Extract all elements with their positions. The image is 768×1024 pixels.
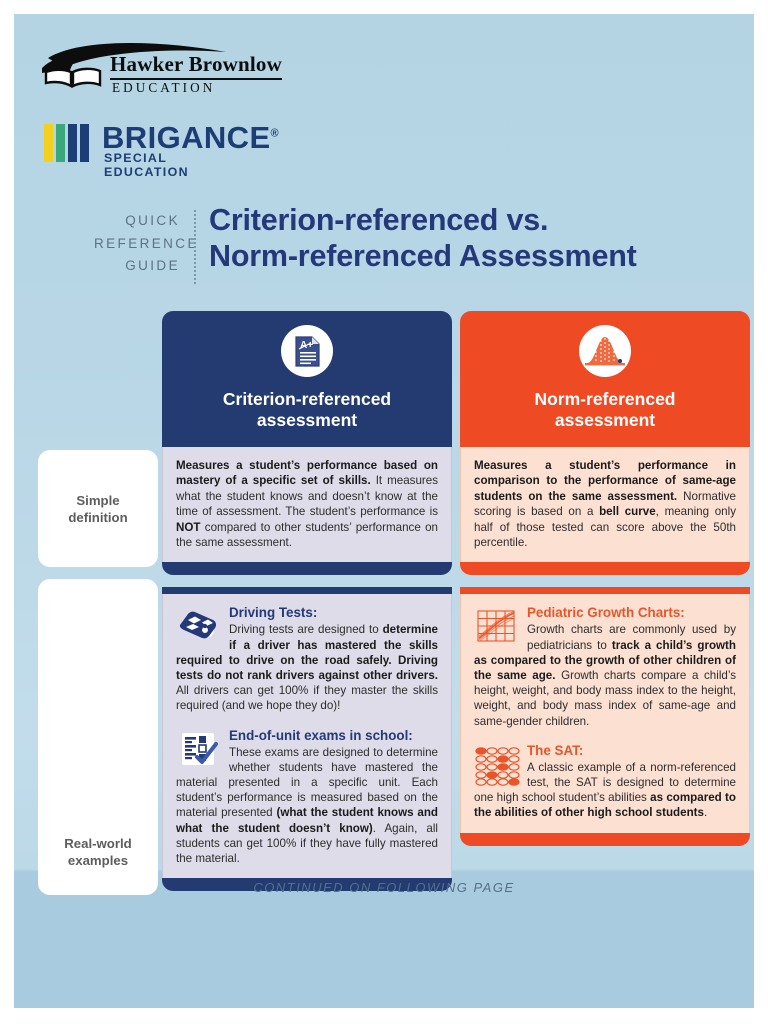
- column-norm-referenced: Norm-referenced assessment Measures a st…: [460, 311, 750, 846]
- brigance-subtitle: SPECIAL EDUCATION: [104, 151, 189, 179]
- criterion-simple-definition: Measures a student’s performance based o…: [162, 447, 452, 562]
- criterion-examples-top-bar: [162, 587, 452, 594]
- criterion-definition-bold-mid: NOT: [176, 521, 200, 534]
- registered-mark: ®: [271, 128, 280, 140]
- sat-text-2: .: [704, 806, 707, 819]
- row-spacer: [460, 575, 750, 587]
- criterion-definition-bottom-bar: [162, 562, 452, 575]
- row-label-simple-line-2: definition: [68, 509, 127, 526]
- example-the-sat: The SAT: A classic example of a norm-ref…: [474, 743, 736, 821]
- row-label-simple-definition: Simple definition: [38, 450, 158, 567]
- row-label-real-world-examples: Real-world examples: [38, 579, 158, 895]
- car-icon: [176, 606, 222, 648]
- norm-definition-bottom-bar: [460, 562, 750, 575]
- criterion-card-title: Criterion-referenced assessment: [162, 389, 452, 431]
- row-label-real-line-2: examples: [64, 852, 131, 869]
- example-pediatric-growth-charts: Pediatric Growth Charts: Growth charts a…: [474, 605, 736, 728]
- criterion-card-header: A+ Criterion-referenced assessment: [162, 311, 452, 447]
- norm-definition-bold-mid: bell curve: [599, 505, 656, 518]
- hawker-brownlow-subtitle: EDUCATION: [112, 80, 215, 96]
- column-criterion-referenced: A+ Criterion-referenced assessment Measu…: [162, 311, 452, 891]
- hawker-brownlow-logo: Hawker Brownlow EDUCATION: [40, 42, 290, 102]
- norm-simple-definition: Measures a student’s performance in comp…: [460, 447, 750, 562]
- page-title: Criterion-referenced vs. Norm-referenced…: [209, 202, 729, 274]
- brigance-word-text: BRIGANCE: [102, 120, 271, 155]
- checklist-icon: [176, 729, 222, 771]
- quick-reference-guide-kicker: QUICK REFERENCE GUIDE: [94, 210, 180, 278]
- brigance-bars-icon: [44, 124, 89, 162]
- criterion-real-world-examples: Driving Tests: Driving tests are designe…: [162, 594, 452, 878]
- driving-text-1: Driving tests are designed to: [229, 623, 383, 636]
- page-title-line-2: Norm-referenced Assessment: [209, 238, 729, 274]
- document-a-plus-icon: A+: [281, 325, 333, 377]
- title-block: QUICK REFERENCE GUIDE Criterion-referenc…: [94, 206, 734, 296]
- kicker-line-3: GUIDE: [94, 255, 180, 278]
- norm-title-line-2: assessment: [555, 410, 655, 430]
- norm-card-header: Norm-referenced assessment: [460, 311, 750, 447]
- bell-curve-icon: [579, 325, 631, 377]
- criterion-definition-rest-2: compared to other students’ performance …: [176, 521, 438, 549]
- norm-card-title: Norm-referenced assessment: [460, 389, 750, 431]
- criterion-title-line-1: Criterion-referenced: [223, 389, 391, 409]
- page-title-line-1: Criterion-referenced vs.: [209, 202, 729, 238]
- driving-text-2: All drivers can get 100% if they master …: [176, 684, 438, 712]
- continued-note: CONTINUED ON FOLLOWING PAGE: [14, 880, 754, 895]
- row-label-simple-line-1: Simple: [68, 492, 127, 509]
- norm-title-line-1: Norm-referenced: [534, 389, 675, 409]
- row-spacer: [162, 575, 452, 587]
- norm-real-world-examples: Pediatric Growth Charts: Growth charts a…: [460, 594, 750, 832]
- bubble-sheet-icon: [474, 744, 520, 786]
- example-driving-tests: Driving Tests: Driving tests are designe…: [176, 605, 438, 713]
- growth-chart-icon: [474, 606, 520, 648]
- kicker-line-1: QUICK: [94, 210, 180, 233]
- norm-examples-top-bar: [460, 587, 750, 594]
- hawker-brownlow-name: Hawker Brownlow: [110, 52, 282, 80]
- infographic-page: Hawker Brownlow EDUCATION BRIGANCE® SPEC…: [14, 14, 754, 1008]
- title-divider: [194, 210, 196, 284]
- example-end-of-unit-exams: End-of-unit exams in school: These exams…: [176, 728, 438, 867]
- criterion-title-line-2: assessment: [257, 410, 357, 430]
- kicker-line-2: REFERENCE: [94, 233, 180, 256]
- norm-examples-bottom-bar: [460, 833, 750, 846]
- row-label-real-line-1: Real-world: [64, 835, 131, 852]
